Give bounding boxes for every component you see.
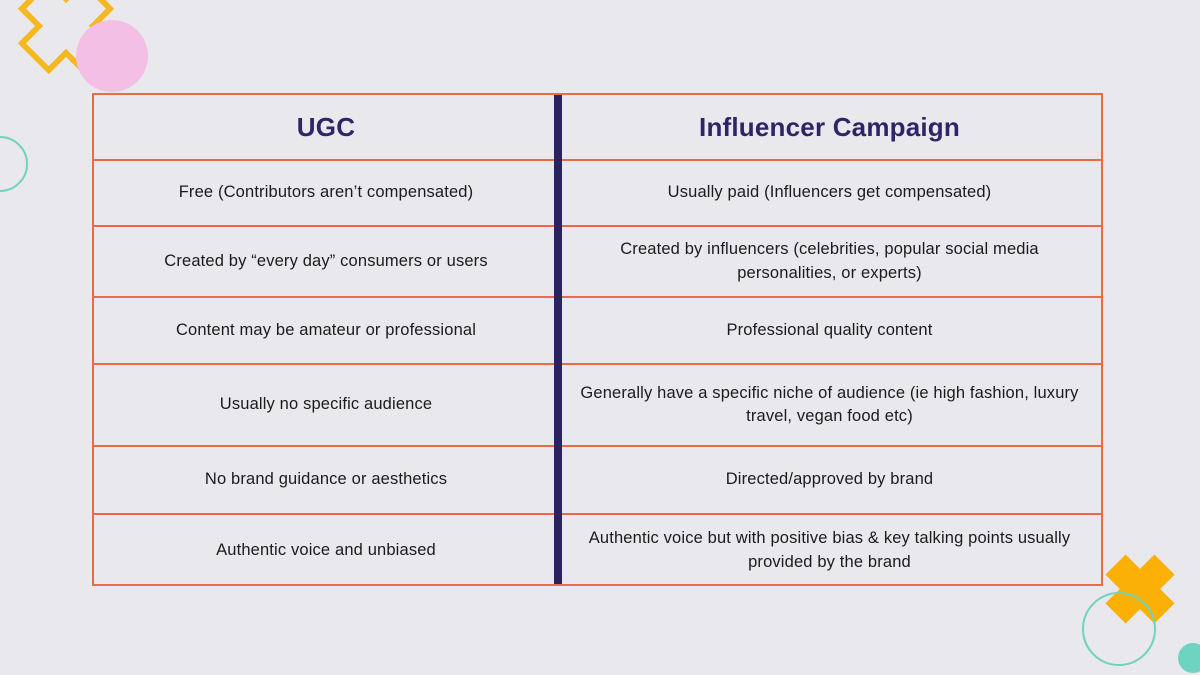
table-row: Created by “every day” consumers or user…: [94, 227, 1101, 298]
cell-influencer-2: Created by influencers (celebrities, pop…: [558, 227, 1101, 296]
circle-teal-outline-decoration: [1082, 592, 1156, 666]
table-row: Authentic voice and unbiased Authentic v…: [94, 515, 1101, 586]
x-solid-icon: [1104, 553, 1176, 625]
column-divider: [554, 95, 562, 584]
dot-teal-decoration: [1178, 643, 1200, 673]
table-row: Usually no specific audience Generally h…: [94, 365, 1101, 447]
cell-ugc-4: Usually no specific audience: [94, 365, 558, 445]
column-header-ugc: UGC: [94, 95, 558, 159]
cell-influencer-6: Authentic voice but with positive bias &…: [558, 515, 1101, 586]
table-header-row: UGC Influencer Campaign: [94, 95, 1101, 161]
table-row: Free (Contributors aren’t compensated) U…: [94, 161, 1101, 227]
cell-influencer-3: Professional quality content: [558, 298, 1101, 363]
cell-ugc-6: Authentic voice and unbiased: [94, 515, 558, 586]
cell-ugc-1: Free (Contributors aren’t compensated): [94, 161, 558, 225]
cell-ugc-5: No brand guidance or aesthetics: [94, 447, 558, 513]
circle-teal-left-decoration: [0, 136, 28, 192]
cell-influencer-5: Directed/approved by brand: [558, 447, 1101, 513]
x-outline-icon: [18, 0, 114, 74]
circle-pink-decoration: [76, 20, 148, 92]
table-row: No brand guidance or aesthetics Directed…: [94, 447, 1101, 515]
cell-ugc-3: Content may be amateur or professional: [94, 298, 558, 363]
cell-influencer-4: Generally have a specific niche of audie…: [558, 365, 1101, 445]
column-header-influencer-campaign: Influencer Campaign: [558, 95, 1101, 159]
cell-ugc-2: Created by “every day” consumers or user…: [94, 227, 558, 296]
cell-influencer-1: Usually paid (Influencers get compensate…: [558, 161, 1101, 225]
table-row: Content may be amateur or professional P…: [94, 298, 1101, 365]
comparison-table: UGC Influencer Campaign Free (Contributo…: [92, 93, 1103, 586]
